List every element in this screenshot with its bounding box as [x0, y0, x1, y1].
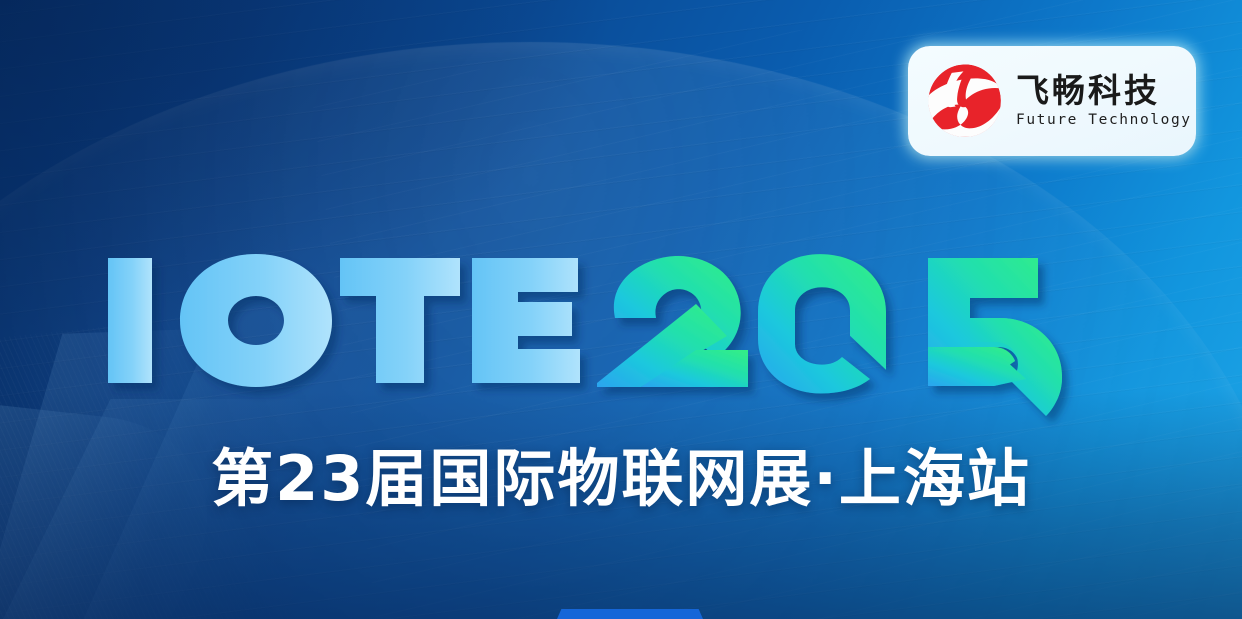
headline-iote-letters: [108, 254, 580, 387]
event-headline: [108, 240, 1108, 400]
company-name-english: Future Technology: [1016, 112, 1192, 128]
bottom-accent-tab: [557, 609, 703, 619]
iote-2025-event-banner: 飞畅科技 Future Technology: [0, 0, 1242, 619]
company-logo-text: 飞畅科技 Future Technology: [1016, 74, 1192, 128]
event-headline-artwork: [108, 240, 1108, 400]
fc-stylized-red-emblem-icon: [926, 62, 1004, 140]
company-name-chinese: 飞畅科技: [1016, 74, 1192, 108]
company-logo-badge[interactable]: 飞畅科技 Future Technology: [908, 46, 1196, 156]
event-subtitle: 第23届国际物联网展·上海站: [0, 440, 1242, 518]
headline-year-digits: [597, 254, 1062, 416]
